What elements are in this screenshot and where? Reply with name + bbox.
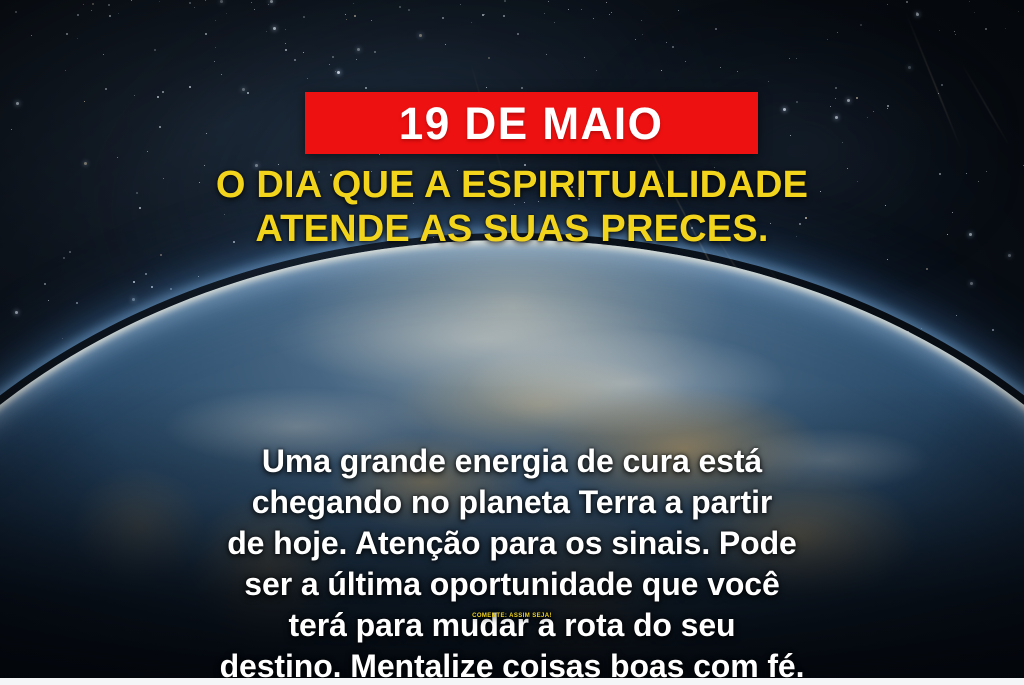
poster-content: 19 DE MAIO O DIA QUE A ESPIRITUALIDADE A…: [0, 0, 1024, 685]
body-line-5: terá para mudar a rota do seu: [50, 605, 974, 646]
body-line-1: Uma grande energia de cura está: [50, 441, 974, 482]
body-line-4: ser a última oportunidade que você: [50, 564, 974, 605]
date-banner: 19 DE MAIO: [305, 92, 758, 154]
headline-line-1: O DIA QUE A ESPIRITUALIDADE: [0, 163, 1024, 207]
headline: O DIA QUE A ESPIRITUALIDADE ATENDE AS SU…: [0, 163, 1024, 251]
body-paragraph: Uma grande energia de cura está chegando…: [50, 441, 974, 685]
body-line-3: de hoje. Atenção para os sinais. Pode: [50, 523, 974, 564]
body-line-2: chegando no planeta Terra a partir: [50, 482, 974, 523]
footer-strip: [0, 678, 1024, 685]
poster-canvas: 19 DE MAIO O DIA QUE A ESPIRITUALIDADE A…: [0, 0, 1024, 685]
call-to-action-text: COMENTE: ASSIM SEJA!: [0, 613, 1024, 620]
date-banner-label: 19 DE MAIO: [399, 101, 664, 146]
headline-line-2: ATENDE AS SUAS PRECES.: [0, 207, 1024, 251]
